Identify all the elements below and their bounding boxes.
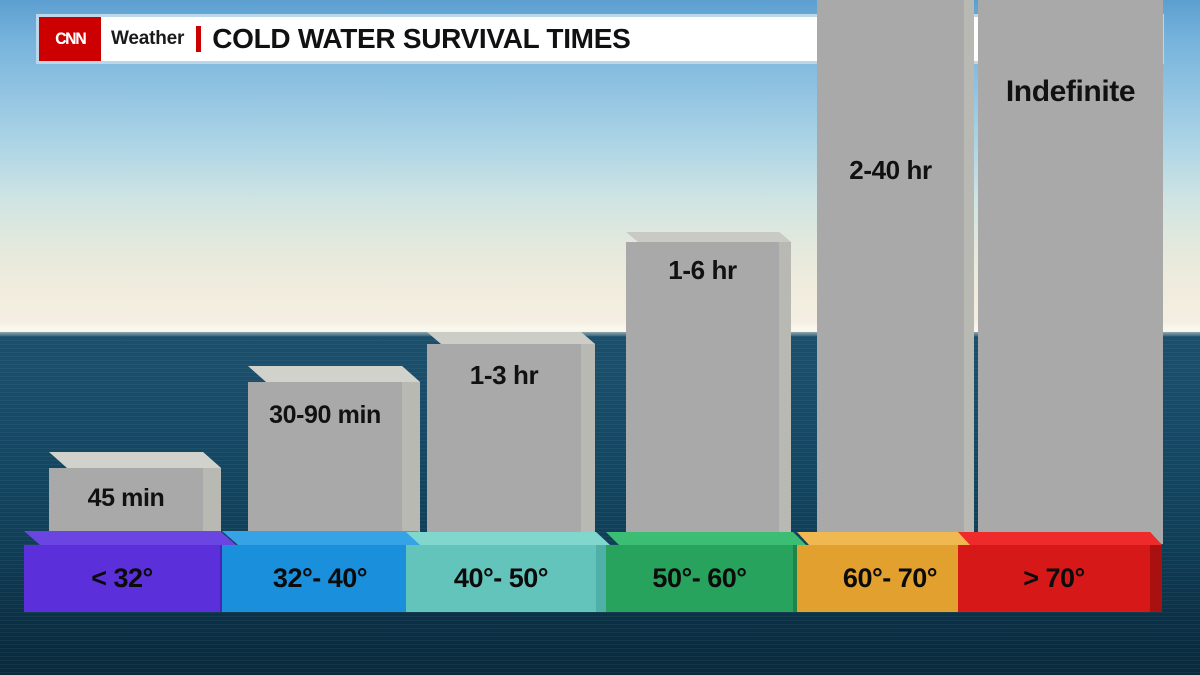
survival-bar-1: 30-90 min bbox=[248, 382, 402, 554]
base-top-face bbox=[24, 531, 236, 545]
temp-range-label-3: 50°- 60° bbox=[606, 563, 793, 594]
temp-base-2: 40°- 50° bbox=[406, 545, 596, 612]
chart-area: 45 min < 32° 30-90 min 32°- 40° bbox=[0, 0, 1200, 675]
base-top-face bbox=[606, 532, 806, 545]
bar-value-label-0: 45 min bbox=[49, 484, 203, 513]
temp-base-5: > 70° bbox=[958, 545, 1150, 612]
bar-top-face bbox=[49, 452, 221, 468]
bar-top-face bbox=[626, 232, 791, 242]
temp-base-0: < 32° bbox=[24, 545, 220, 612]
base-top-face bbox=[958, 532, 1162, 545]
survival-bar-3: 1-6 hr bbox=[626, 242, 779, 554]
bar-front-face bbox=[817, 0, 964, 554]
bar-front-face bbox=[626, 242, 779, 554]
temp-range-label-1: 32°- 40° bbox=[222, 563, 418, 594]
temp-base-3: 50°- 60° bbox=[606, 545, 793, 612]
survival-bar-2: 1-3 hr bbox=[427, 344, 581, 554]
base-top-face bbox=[222, 531, 434, 545]
bar-value-label-4: 2-40 hr bbox=[817, 155, 964, 186]
temp-base-1: 32°- 40° bbox=[222, 545, 418, 612]
weather-graphic: CNN Weather COLD WATER SURVIVAL TIMES 45… bbox=[0, 0, 1200, 675]
bar-top-face bbox=[427, 332, 595, 344]
bar-side-face bbox=[581, 332, 595, 554]
bar-value-label-1: 30-90 min bbox=[248, 401, 402, 430]
survival-bar-4: 2-40 hr bbox=[817, 0, 964, 554]
bar-value-label-5: Indefinite bbox=[978, 75, 1163, 109]
bar-value-label-3: 1-6 hr bbox=[626, 255, 779, 286]
temp-range-label-5: > 70° bbox=[958, 563, 1150, 594]
temp-range-label-4: 60°- 70° bbox=[797, 563, 983, 594]
temp-range-label-2: 40°- 50° bbox=[406, 563, 596, 594]
base-top-face bbox=[406, 532, 610, 545]
bar-top-face bbox=[248, 366, 420, 382]
temp-base-4: 60°- 70° bbox=[797, 545, 983, 612]
bar-side-face bbox=[779, 232, 791, 554]
survival-bar-5: Indefinite bbox=[978, 0, 1163, 544]
bar-side-face bbox=[964, 0, 974, 554]
temp-range-label-0: < 32° bbox=[24, 563, 220, 594]
bar-side-face bbox=[402, 366, 420, 554]
bar-value-label-2: 1-3 hr bbox=[427, 360, 581, 391]
